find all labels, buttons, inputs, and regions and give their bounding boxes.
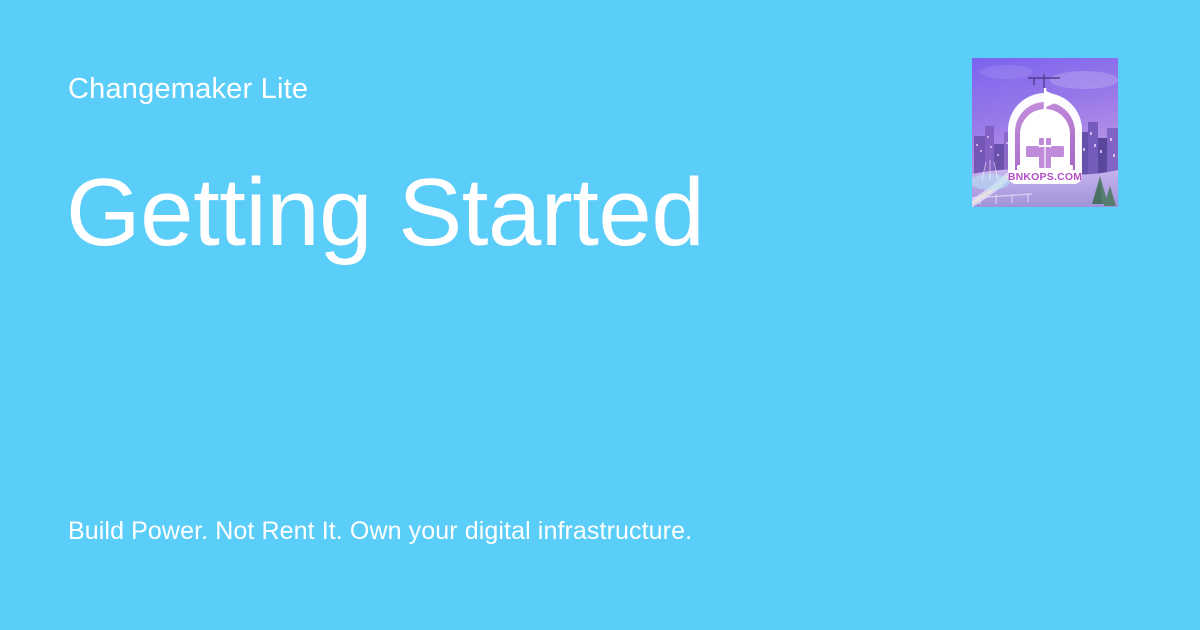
page-eyebrow: Changemaker Lite [68,71,308,107]
page-tagline: Build Power. Not Rent It. Own your digit… [68,515,692,547]
logo-wordmark: BNKOPS.COM [1008,171,1082,183]
bnkops-logo: BNKOPS.COM [972,58,1118,207]
page-title: Getting Started [66,160,704,266]
slide-canvas: Changemaker Lite Getting Started Build P… [0,0,1200,630]
